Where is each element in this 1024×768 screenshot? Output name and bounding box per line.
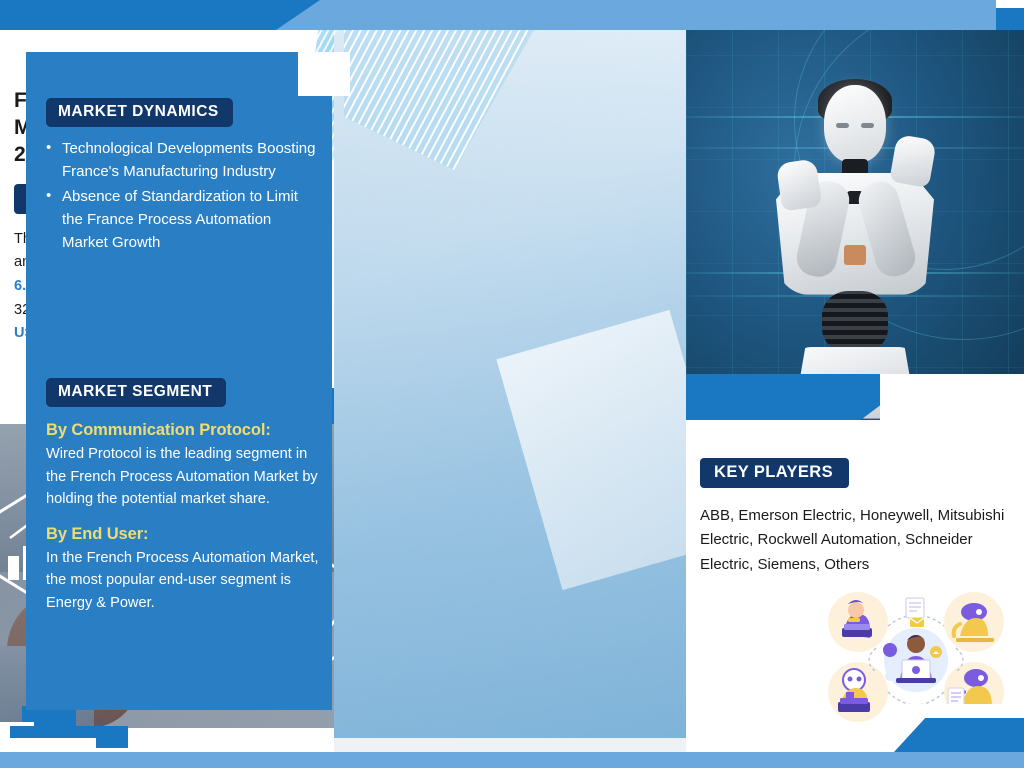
infographic-page: France Process Automation Market Report … <box>0 0 1024 768</box>
robot-open-hand <box>776 158 822 211</box>
bottom-left-white-strip <box>0 738 96 752</box>
market-segment-badge: MARKET SEGMENT <box>46 378 226 407</box>
robot-eye-right <box>861 123 874 128</box>
robot-eye-left <box>836 123 849 128</box>
segment-body-protocol: Wired Protocol is the leading segment in… <box>46 443 322 511</box>
bottom-light-band <box>0 752 1024 768</box>
key-players-badge: KEY PLAYERS <box>700 458 849 488</box>
list-item: Absence of Standardization to Limit the … <box>46 185 318 254</box>
middle-column <box>334 30 686 752</box>
key-players-list: ABB, Emerson Electric, Honeywell, Mitsub… <box>700 504 1010 577</box>
segment-body-enduser: In the French Process Automation Market,… <box>46 547 322 615</box>
segment-heading-enduser: By End User: <box>46 525 322 544</box>
list-item: Technological Developments Boosting Fran… <box>46 137 318 183</box>
robot-core-chip <box>844 245 866 265</box>
segment-heading-protocol: By Communication Protocol: <box>46 421 322 440</box>
middle-panel-white-notch <box>298 52 350 96</box>
market-segment-section: MARKET SEGMENT By Communication Protocol… <box>46 378 322 615</box>
market-dynamics-badge: MARKET DYNAMICS <box>46 98 233 127</box>
market-dynamics-list: Technological Developments Boosting Fran… <box>46 137 318 254</box>
market-dynamics-section: MARKET DYNAMICS Technological Developmen… <box>46 98 318 256</box>
robot-photo-white-notch <box>880 374 1024 420</box>
humanoid-robot-photo <box>686 30 1024 420</box>
robot-pointing-hand <box>889 133 937 187</box>
bottom-right-white-strip <box>894 704 1024 718</box>
middle-bottom-strip <box>334 738 686 752</box>
key-players-section: KEY PLAYERS ABB, Emerson Electric, Honey… <box>700 458 1010 577</box>
robot-head <box>824 85 886 163</box>
robot-spine-spring <box>822 291 888 353</box>
